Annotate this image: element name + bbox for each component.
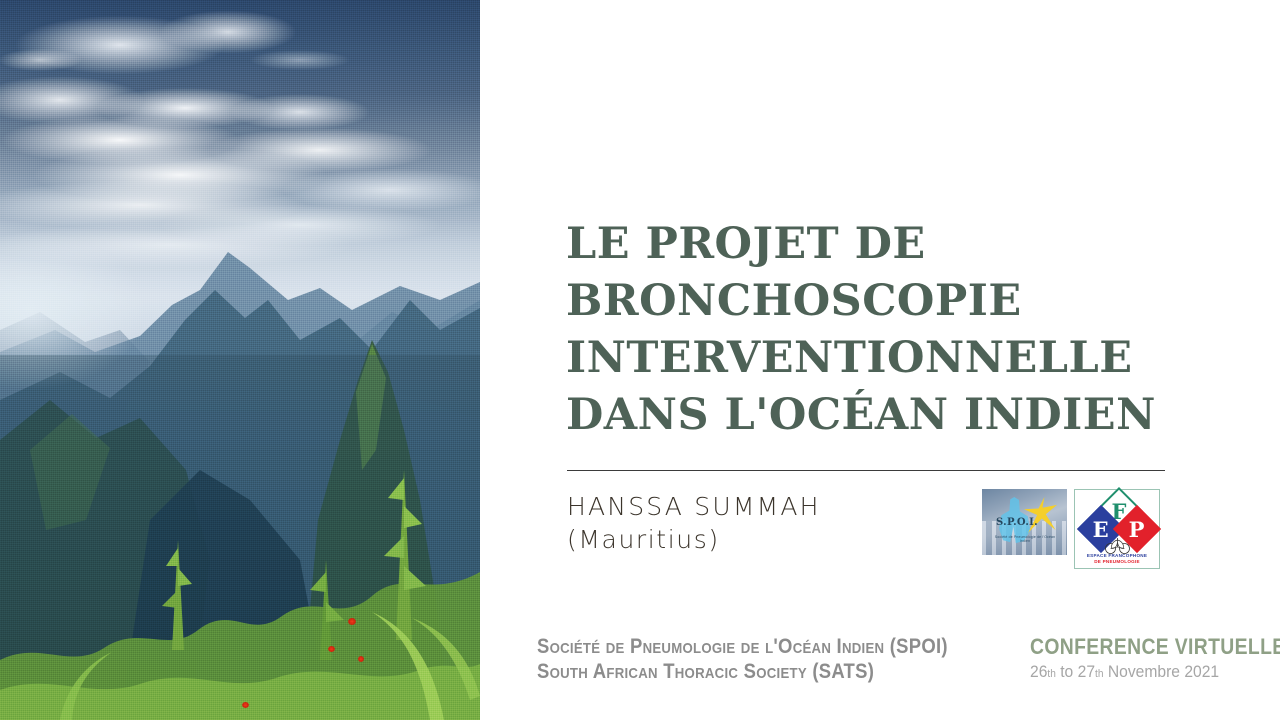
title-line-4: DANS L'OCÉAN INDIEN <box>566 387 1206 444</box>
efp-caption: ESPACE FRANCOPHONE DE PNEUMOLOGIE <box>1079 553 1155 565</box>
efp-logo: F E P ESPACE FRANCOPHONE DE PNEUMOLOGIE <box>1074 489 1160 569</box>
efp-caption-line2: DE PNEUMOLOGIE <box>1079 559 1155 565</box>
conference-footer: CONFERENCE VIRTUELLE 26th to 27th Novemb… <box>1030 634 1242 686</box>
spoi-logo: S.P.O.I. Société de Pneumologie de l'Océ… <box>982 489 1067 555</box>
date-start-suffix: th <box>1047 668 1055 680</box>
society-line-1: Société de Pneumologie de l'Océan Indien… <box>537 634 948 659</box>
author-name: HANSSA SUMMAH <box>567 490 967 523</box>
date-start: 26 <box>1030 662 1047 681</box>
landscape-photo <box>0 0 480 720</box>
date-month-year: Novembre 2021 <box>1108 662 1219 681</box>
title-slide: LE PROJET DE BRONCHOSCOPIE INTERVENTIONN… <box>0 0 1280 720</box>
title-line-2: BRONCHOSCOPIE <box>566 273 1206 330</box>
society-line-2: South African Thoracic Society (SATS) <box>537 659 948 684</box>
author-location: (Mauritius) <box>567 523 967 557</box>
spoi-acronym: S.P.O.I. <box>996 517 1038 528</box>
societies-footer: Société de Pneumologie de l'Océan Indien… <box>537 634 1004 684</box>
date-joiner: to <box>1060 662 1073 681</box>
title-line-1: LE PROJET DE <box>566 216 1206 273</box>
page-title: LE PROJET DE BRONCHOSCOPIE INTERVENTIONN… <box>566 216 1206 444</box>
date-end: 27 <box>1078 662 1095 681</box>
conference-name: CONFERENCE VIRTUELLE <box>1030 634 1217 660</box>
spoi-caption: Société de Pneumologie de l'Océan Indien <box>990 535 1060 543</box>
efp-letter-p: P <box>1129 518 1145 539</box>
title-divider <box>567 470 1165 471</box>
title-line-3: INTERVENTIONNELLE <box>566 330 1206 387</box>
canvas-texture-overlay <box>0 0 480 720</box>
conference-dates: 26th to 27th Novembre 2021 <box>1030 660 1225 686</box>
date-end-suffix: th <box>1095 668 1103 680</box>
author-block: HANSSA SUMMAH (Mauritius) <box>567 490 967 557</box>
logo-group: S.P.O.I. Société de Pneumologie de l'Océ… <box>982 489 1160 569</box>
